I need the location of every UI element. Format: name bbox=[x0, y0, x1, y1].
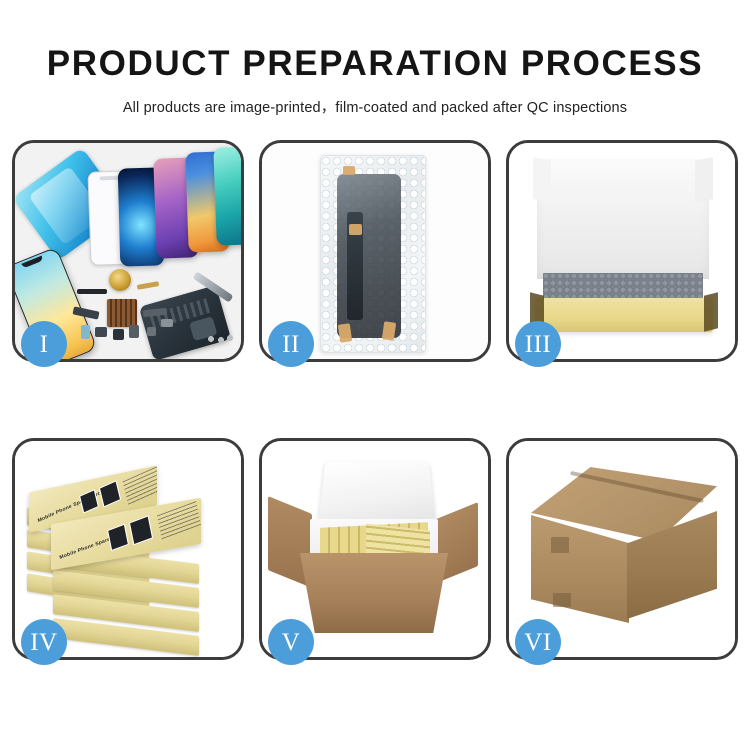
carton-tape-1-icon bbox=[551, 537, 569, 553]
yellow-box-front-icon bbox=[535, 298, 713, 332]
page-header: PRODUCT PREPARATION PROCESS All products… bbox=[0, 0, 750, 117]
part-strip-2-icon bbox=[137, 281, 160, 290]
step-numeral-4: IV bbox=[30, 630, 57, 655]
small-part-5-icon bbox=[147, 327, 156, 336]
speaker-coil-icon bbox=[109, 269, 131, 291]
screws-icon bbox=[207, 335, 233, 343]
copper-grid-part-icon bbox=[107, 299, 137, 327]
bubble-wrap-bag-icon bbox=[320, 155, 426, 353]
carton-tape-2-icon bbox=[553, 593, 571, 607]
step-panel-6: VI bbox=[506, 438, 738, 660]
step-panel-3: III bbox=[506, 140, 738, 362]
styrofoam-lid-icon bbox=[318, 462, 435, 522]
step-badge-5: V bbox=[268, 619, 314, 665]
white-foam-lid-icon bbox=[537, 159, 709, 279]
step-badge-6: VI bbox=[515, 619, 561, 665]
tape-piece-2-icon bbox=[349, 224, 362, 235]
small-part-3-icon bbox=[113, 329, 124, 340]
box-phone-image-4 bbox=[129, 515, 153, 545]
page-subtitle: All products are image-printed，film-coat… bbox=[0, 81, 750, 117]
box-spec-lines-front bbox=[157, 501, 201, 540]
box-phone-image-2 bbox=[99, 480, 121, 507]
tape-piece-4-icon bbox=[382, 321, 396, 340]
part-strip-1-icon bbox=[77, 289, 107, 294]
box-stack-icon: Mobile Phone Spare Parts Mobile Phone Sp… bbox=[21, 451, 235, 647]
small-part-4-icon bbox=[129, 325, 139, 338]
step-panel-5: V bbox=[259, 438, 491, 660]
box-spec-lines-back bbox=[123, 465, 157, 505]
step-panel-1: I bbox=[12, 140, 244, 362]
step-numeral-6: VI bbox=[524, 630, 551, 655]
step-badge-4: IV bbox=[21, 619, 67, 665]
small-part-6-icon bbox=[161, 319, 173, 327]
step-numeral-3: III bbox=[525, 332, 551, 357]
step-badge-2: II bbox=[268, 321, 314, 367]
process-steps-grid: I II bbox=[12, 140, 738, 685]
small-part-2-icon bbox=[95, 327, 107, 337]
phone-screen-teal-icon bbox=[213, 146, 241, 245]
step-badge-1: I bbox=[21, 321, 67, 367]
carton-body-icon bbox=[300, 553, 448, 633]
small-part-1-icon bbox=[81, 325, 90, 339]
product-preparation-page: PRODUCT PREPARATION PROCESS All products… bbox=[0, 0, 750, 750]
step-panel-4: Mobile Phone Spare Parts Mobile Phone Sp… bbox=[12, 438, 244, 660]
step-numeral-5: V bbox=[282, 630, 301, 655]
page-title: PRODUCT PREPARATION PROCESS bbox=[0, 0, 750, 81]
tape-piece-1-icon bbox=[343, 166, 355, 175]
grey-foam-pad-icon bbox=[543, 273, 703, 299]
step-badge-3: III bbox=[515, 321, 561, 367]
box-phone-image-3 bbox=[107, 524, 129, 551]
step-numeral-1: I bbox=[40, 332, 49, 357]
phone-back-housing-icon bbox=[139, 285, 231, 359]
step-panel-2: II bbox=[259, 140, 491, 362]
step-numeral-2: II bbox=[282, 332, 300, 357]
tape-piece-3-icon bbox=[338, 323, 352, 342]
